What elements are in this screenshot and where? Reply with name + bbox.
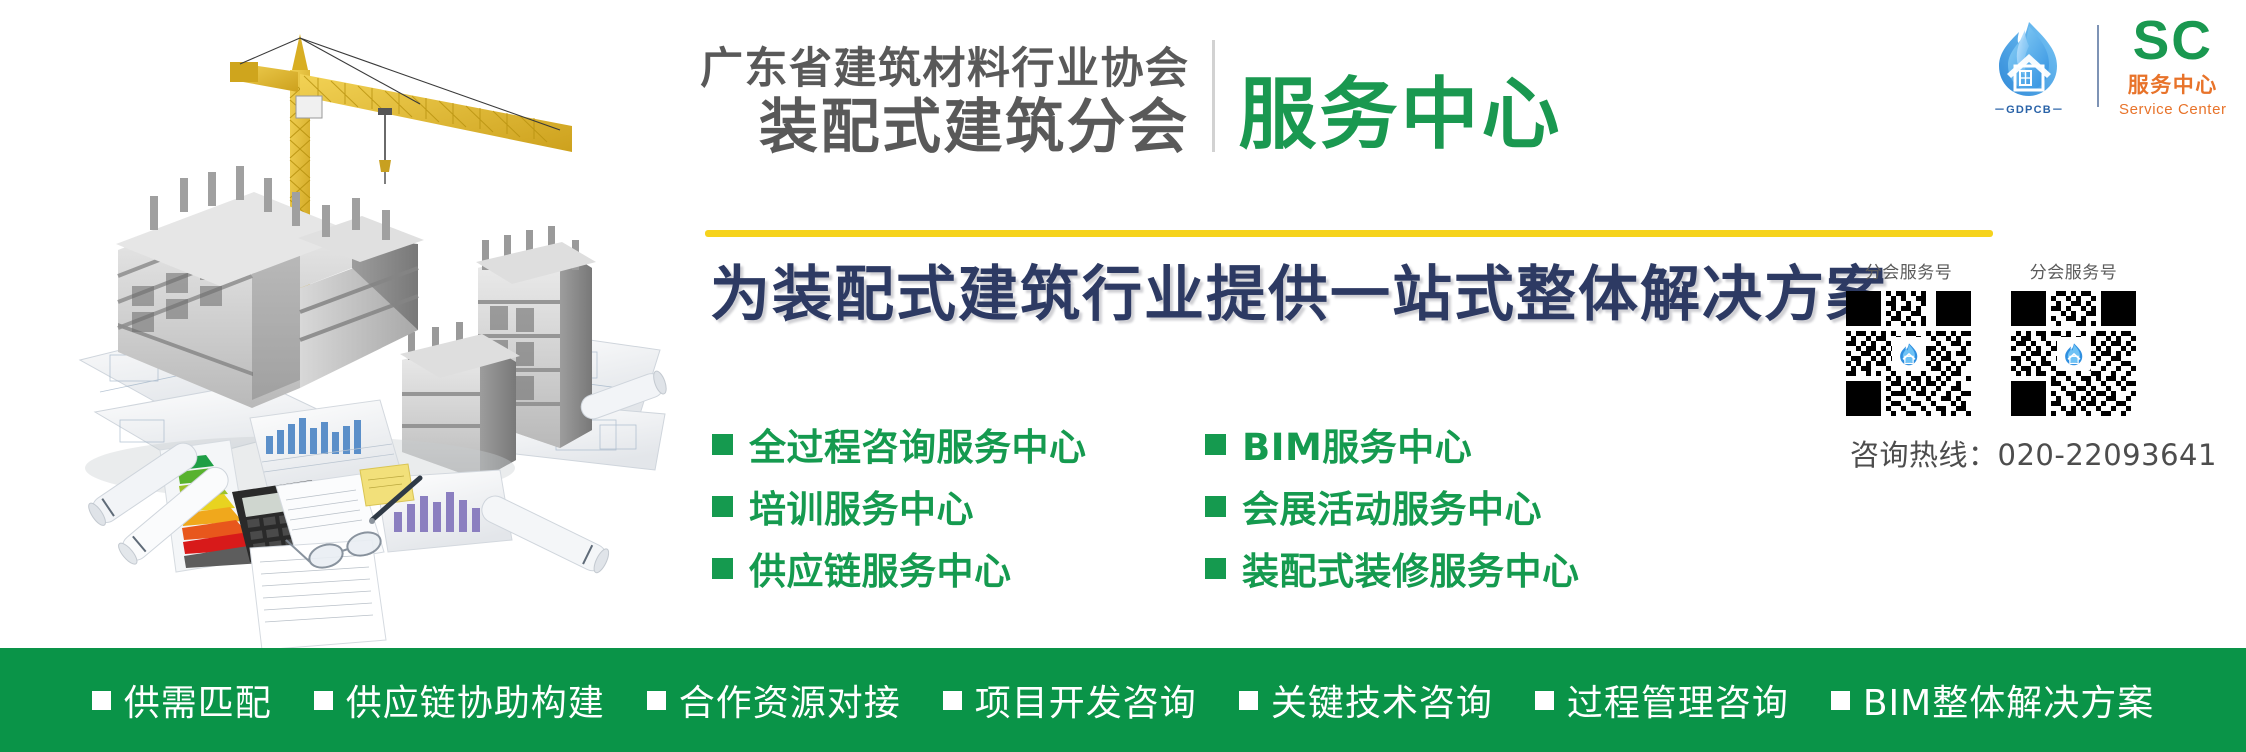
footer-bar: 供需匹配 供应链协助构建 合作资源对接 项目开发咨询 关键技术咨询 过程管理咨询: [0, 648, 2246, 752]
service-list-right-column: BIM服务中心 会展活动服务中心 装配式装修服务中心: [1205, 413, 1580, 599]
footer-item-label: 项目开发咨询: [975, 674, 1197, 726]
main-tagline: 为装配式建筑行业提供一站式整体解决方案: [710, 262, 1888, 328]
square-bullet-icon: [1205, 434, 1226, 455]
logo-zone: －GDPCB－ SC 服务中心 Service Center: [1981, 14, 2227, 118]
logo-vertical-divider: [2097, 25, 2099, 107]
footer-item-label: BIM整体解决方案: [1863, 674, 2154, 726]
hero-construction-image: [0, 0, 700, 648]
qr-center-logo: [2057, 337, 2091, 371]
service-item[interactable]: 装配式装修服务中心: [1205, 537, 1580, 599]
square-bullet-icon: [712, 558, 733, 579]
service-item[interactable]: BIM服务中心: [1205, 413, 1580, 475]
gold-divider-rule: [705, 230, 1993, 237]
square-bullet-icon: [1205, 496, 1226, 517]
hotline-text: 咨询热线：020-22093641: [1850, 432, 2246, 474]
qr-code-caption: 分会服务号: [1865, 258, 1953, 283]
banner-root: 广东省建筑材料行业协会 装配式建筑分会 服务中心 为装配式建筑行业提供一站式整体…: [0, 0, 2246, 752]
qr-code-caption: 分会服务号: [2030, 258, 2118, 283]
square-bullet-icon: [92, 691, 111, 710]
service-center-heading: 服务中心: [1239, 76, 1563, 156]
service-item-label: 供应链服务中心: [749, 541, 1012, 595]
footer-item[interactable]: BIM整体解决方案: [1831, 674, 2154, 726]
hero-illustration-svg: [0, 0, 700, 648]
footer-item-label: 过程管理咨询: [1567, 674, 1789, 726]
qr-contact-zone: 分会服务号: [1846, 258, 2246, 474]
square-bullet-icon: [647, 691, 666, 710]
square-bullet-icon: [1831, 691, 1850, 710]
square-bullet-icon: [712, 434, 733, 455]
footer-item-label: 供需匹配: [124, 674, 272, 726]
square-bullet-icon: [1535, 691, 1554, 710]
service-item-label: 培训服务中心: [749, 479, 974, 533]
square-bullet-icon: [943, 691, 962, 710]
footer-item[interactable]: 供应链协助构建: [314, 674, 605, 726]
square-bullet-icon: [712, 496, 733, 517]
qr-code-cell[interactable]: 分会服务号: [2011, 258, 2136, 416]
qr-center-logo: [1892, 337, 1926, 371]
service-item-label: BIM服务中心: [1242, 417, 1472, 471]
qr-code-image[interactable]: [2011, 291, 2136, 416]
footer-item-label: 供应链协助构建: [346, 674, 605, 726]
service-item[interactable]: 全过程咨询服务中心: [712, 413, 1087, 475]
footer-item[interactable]: 合作资源对接: [647, 674, 901, 726]
footer-items-row: 供需匹配 供应链协助构建 合作资源对接 项目开发咨询 关键技术咨询 过程管理咨询: [71, 674, 2175, 726]
footer-item[interactable]: 过程管理咨询: [1535, 674, 1789, 726]
sc-logo-english: Service Center: [2119, 101, 2227, 118]
footer-item[interactable]: 关键技术咨询: [1239, 674, 1493, 726]
gdpcb-logo[interactable]: －GDPCB－: [1981, 16, 2077, 117]
square-bullet-icon: [1205, 558, 1226, 579]
association-name-line1: 广东省建筑材料行业协会: [700, 48, 1190, 91]
service-item-label: 全过程咨询服务中心: [749, 417, 1087, 471]
sc-logo-letters: SC: [2133, 14, 2213, 66]
sc-logo[interactable]: SC 服务中心 Service Center: [2119, 14, 2227, 118]
footer-item[interactable]: 供需匹配: [92, 674, 272, 726]
service-item[interactable]: 培训服务中心: [712, 475, 1087, 537]
content-area: 广东省建筑材料行业协会 装配式建筑分会 服务中心 为装配式建筑行业提供一站式整体…: [700, 0, 2246, 648]
footer-item-label: 合作资源对接: [679, 674, 901, 726]
footer-item-label: 关键技术咨询: [1271, 674, 1493, 726]
service-item-label: 会展活动服务中心: [1242, 479, 1542, 533]
association-name-block: 广东省建筑材料行业协会 装配式建筑分会: [700, 48, 1212, 156]
house-flame-icon: [1985, 16, 2073, 100]
qr-code-cell[interactable]: 分会服务号: [1846, 258, 1971, 416]
house-flame-icon: [1896, 341, 1922, 367]
service-item-label: 装配式装修服务中心: [1242, 541, 1580, 595]
service-list-left-column: 全过程咨询服务中心 培训服务中心 供应链服务中心: [712, 413, 1087, 599]
square-bullet-icon: [1239, 691, 1258, 710]
footer-item[interactable]: 项目开发咨询: [943, 674, 1197, 726]
square-bullet-icon: [314, 691, 333, 710]
qr-code-image[interactable]: [1846, 291, 1971, 416]
association-subdivision-line: 装配式建筑分会: [759, 97, 1190, 156]
sc-logo-chinese: 服务中心: [2128, 69, 2218, 99]
header-row: 广东省建筑材料行业协会 装配式建筑分会 服务中心: [700, 40, 1563, 156]
service-item[interactable]: 供应链服务中心: [712, 537, 1087, 599]
header-vertical-divider: [1212, 40, 1215, 152]
qr-code-row: 分会服务号: [1846, 258, 2246, 416]
house-flame-icon: [2061, 341, 2087, 367]
service-item[interactable]: 会展活动服务中心: [1205, 475, 1580, 537]
gdpcb-logo-tagline: －GDPCB－: [1994, 101, 2064, 117]
